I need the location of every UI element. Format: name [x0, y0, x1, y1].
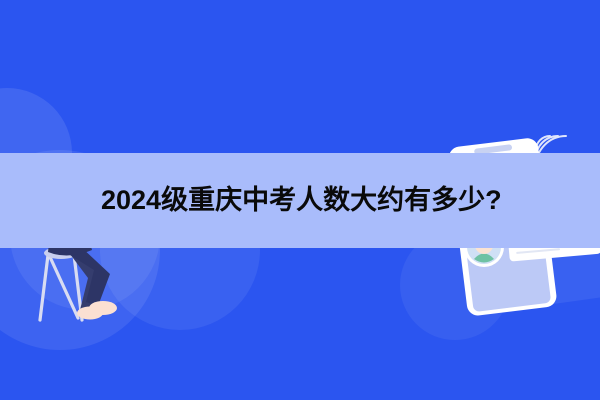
- title-band: 2024级重庆中考人数大约有多少?: [0, 153, 600, 248]
- leg-back: [70, 252, 100, 312]
- shoe-back: [77, 307, 103, 320]
- banner-image: 2024级重庆中考人数大约有多少?: [0, 0, 600, 400]
- stool-seat: [44, 247, 78, 259]
- page-title: 2024级重庆中考人数大约有多少?: [101, 187, 502, 214]
- stool-legs: [40, 255, 82, 320]
- leg-front: [62, 246, 110, 306]
- shoe-front: [89, 301, 117, 315]
